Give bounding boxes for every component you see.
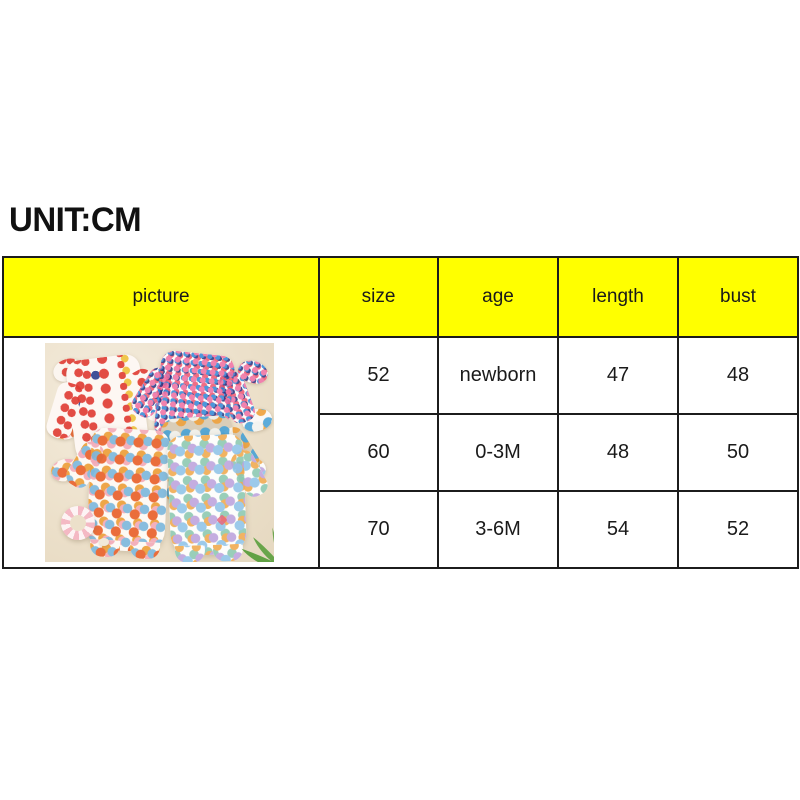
- cell-size: 70: [319, 491, 438, 568]
- cell-age: 3-6M: [438, 491, 558, 568]
- cell-length: 48: [558, 414, 678, 491]
- table-header-row: picture size age length bust: [3, 257, 798, 337]
- unit-label: UNIT:CM: [9, 203, 141, 237]
- cell-bust: 50: [678, 414, 798, 491]
- table-row: 52 newborn 47 48: [3, 337, 798, 414]
- column-header-bust: bust: [678, 257, 798, 337]
- cell-length: 47: [558, 337, 678, 414]
- column-header-picture: picture: [3, 257, 319, 337]
- column-header-size: size: [319, 257, 438, 337]
- ring-toy-icon: [61, 506, 95, 540]
- column-header-age: age: [438, 257, 558, 337]
- size-chart-table: picture size age length bust: [2, 256, 799, 569]
- product-photo-cell: [3, 337, 319, 568]
- cell-bust: 48: [678, 337, 798, 414]
- pebble-icon: [99, 538, 109, 546]
- column-header-length: length: [558, 257, 678, 337]
- photo-scene: [45, 343, 274, 562]
- cell-length: 54: [558, 491, 678, 568]
- cell-age: newborn: [438, 337, 558, 414]
- product-photo: [45, 343, 274, 562]
- cell-bust: 52: [678, 491, 798, 568]
- cell-size: 52: [319, 337, 438, 414]
- palm-leaf-icon: [228, 514, 274, 562]
- cell-size: 60: [319, 414, 438, 491]
- romper-orange-daisy: [86, 427, 170, 553]
- cell-age: 0-3M: [438, 414, 558, 491]
